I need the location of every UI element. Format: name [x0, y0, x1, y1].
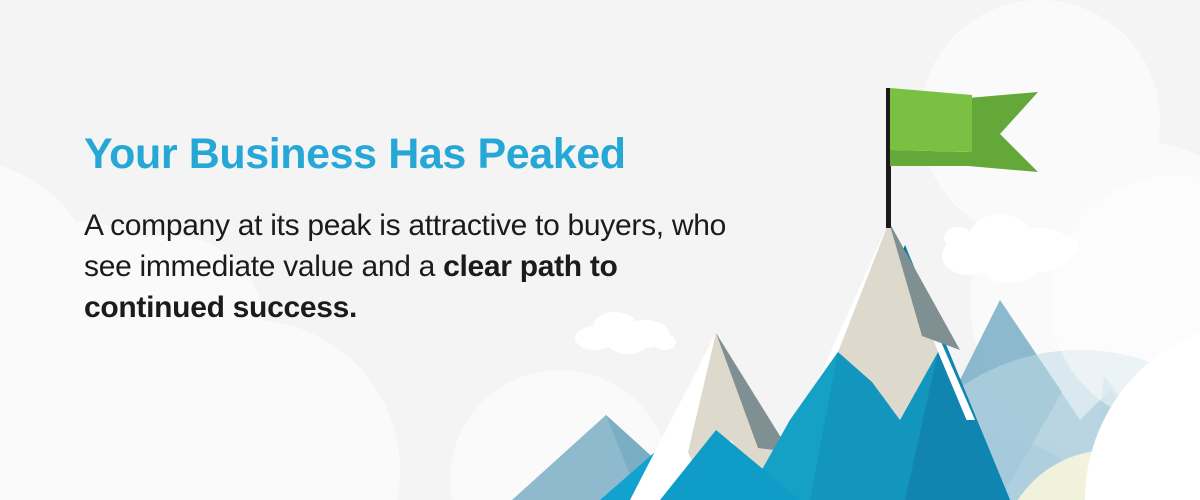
hero-banner: Your Business Has Peaked A company at it…	[0, 0, 1200, 500]
page-title: Your Business Has Peaked	[84, 132, 744, 177]
flag-body	[890, 88, 972, 152]
body-copy: A company at its peak is attractive to b…	[84, 177, 744, 328]
flag-fold	[890, 150, 968, 166]
copy-block: Your Business Has Peaked A company at it…	[84, 132, 744, 328]
body-copy-regular: A company at its peak is attractive to b…	[84, 209, 726, 283]
